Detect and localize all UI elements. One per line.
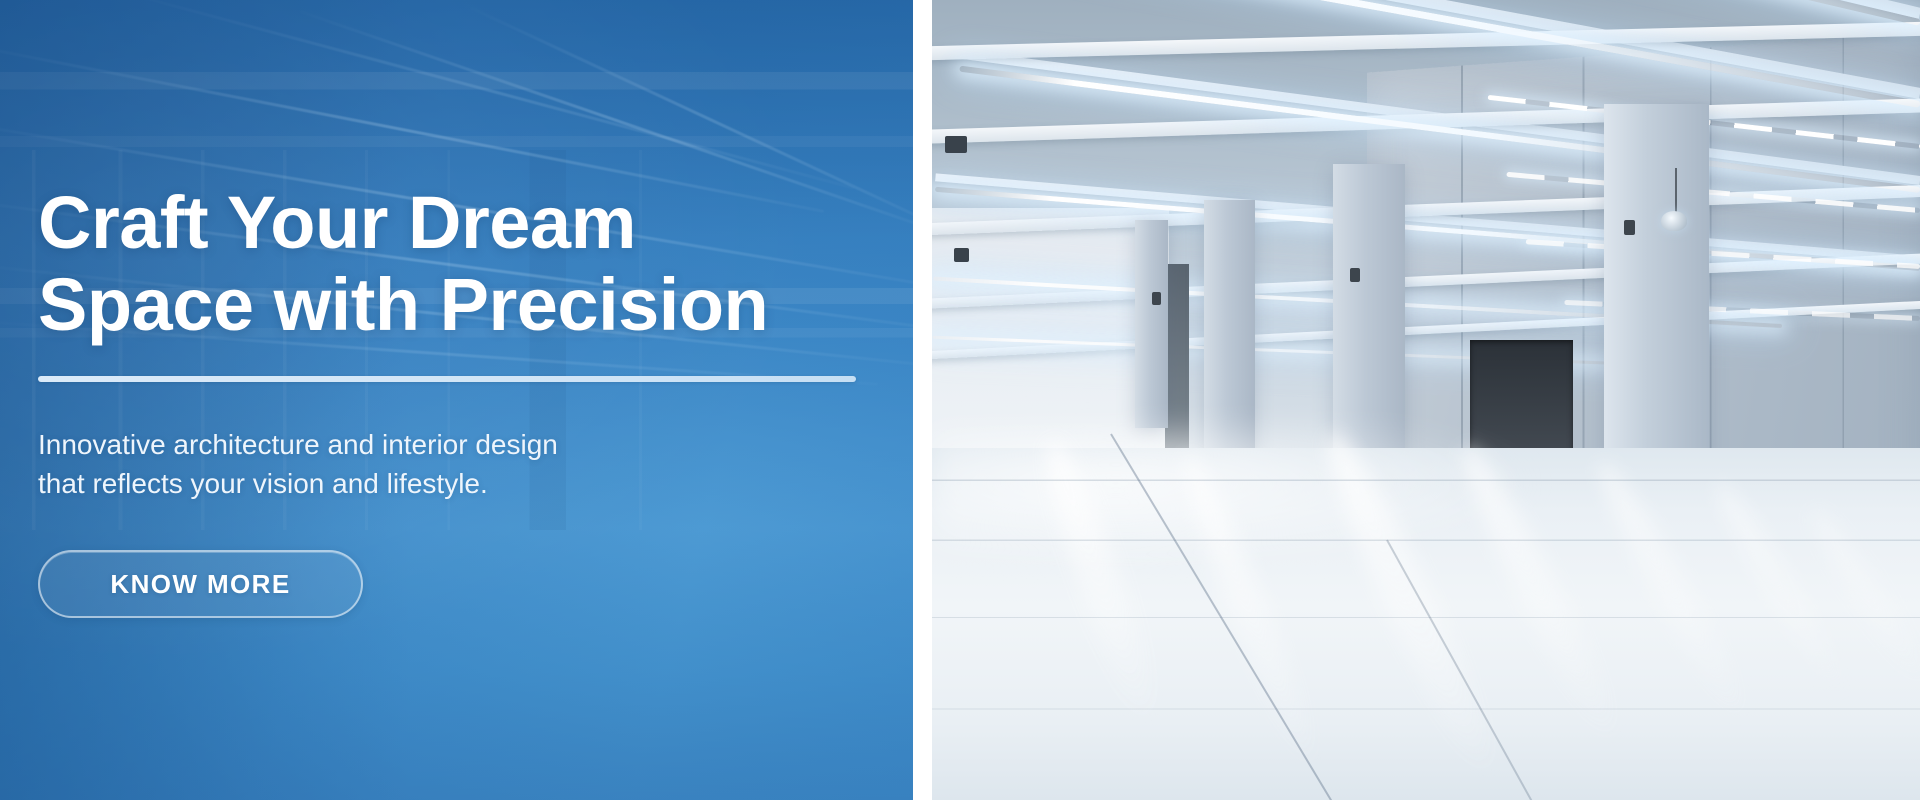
headline-line-1: Craft Your Dream — [38, 181, 636, 264]
subtitle-line-2: that reflects your vision and lifestyle. — [38, 468, 488, 499]
wall-fixture — [1152, 292, 1161, 305]
pendant-light-rod — [1675, 168, 1677, 214]
hero-subtitle: Innovative architecture and interior des… — [38, 426, 758, 503]
page-title: Craft Your Dream Space with Precision — [38, 182, 868, 346]
wall-fixture — [1350, 268, 1360, 282]
wall-fixture — [1624, 220, 1635, 235]
hero-banner: Craft Your Dream Space with Precision In… — [0, 0, 1920, 800]
ceiling-vent — [945, 136, 967, 153]
hero-left-panel: Craft Your Dream Space with Precision In… — [0, 0, 913, 800]
ceiling-vent — [954, 248, 969, 262]
hero-content: Craft Your Dream Space with Precision In… — [38, 0, 868, 800]
structural-column — [1204, 200, 1255, 456]
subtitle-line-1: Innovative architecture and interior des… — [38, 429, 558, 460]
glossy-floor — [932, 448, 1920, 800]
know-more-button[interactable]: KNOW MORE — [38, 550, 363, 618]
structural-column — [1135, 220, 1169, 428]
far-doorway — [1165, 264, 1189, 448]
headline-line-2: Space with Precision — [38, 264, 868, 346]
floor-tile-grid — [932, 448, 1920, 800]
panel-separator — [913, 0, 932, 800]
pendant-light — [1661, 211, 1687, 231]
title-divider — [38, 376, 856, 382]
hero-right-image — [932, 0, 1920, 800]
